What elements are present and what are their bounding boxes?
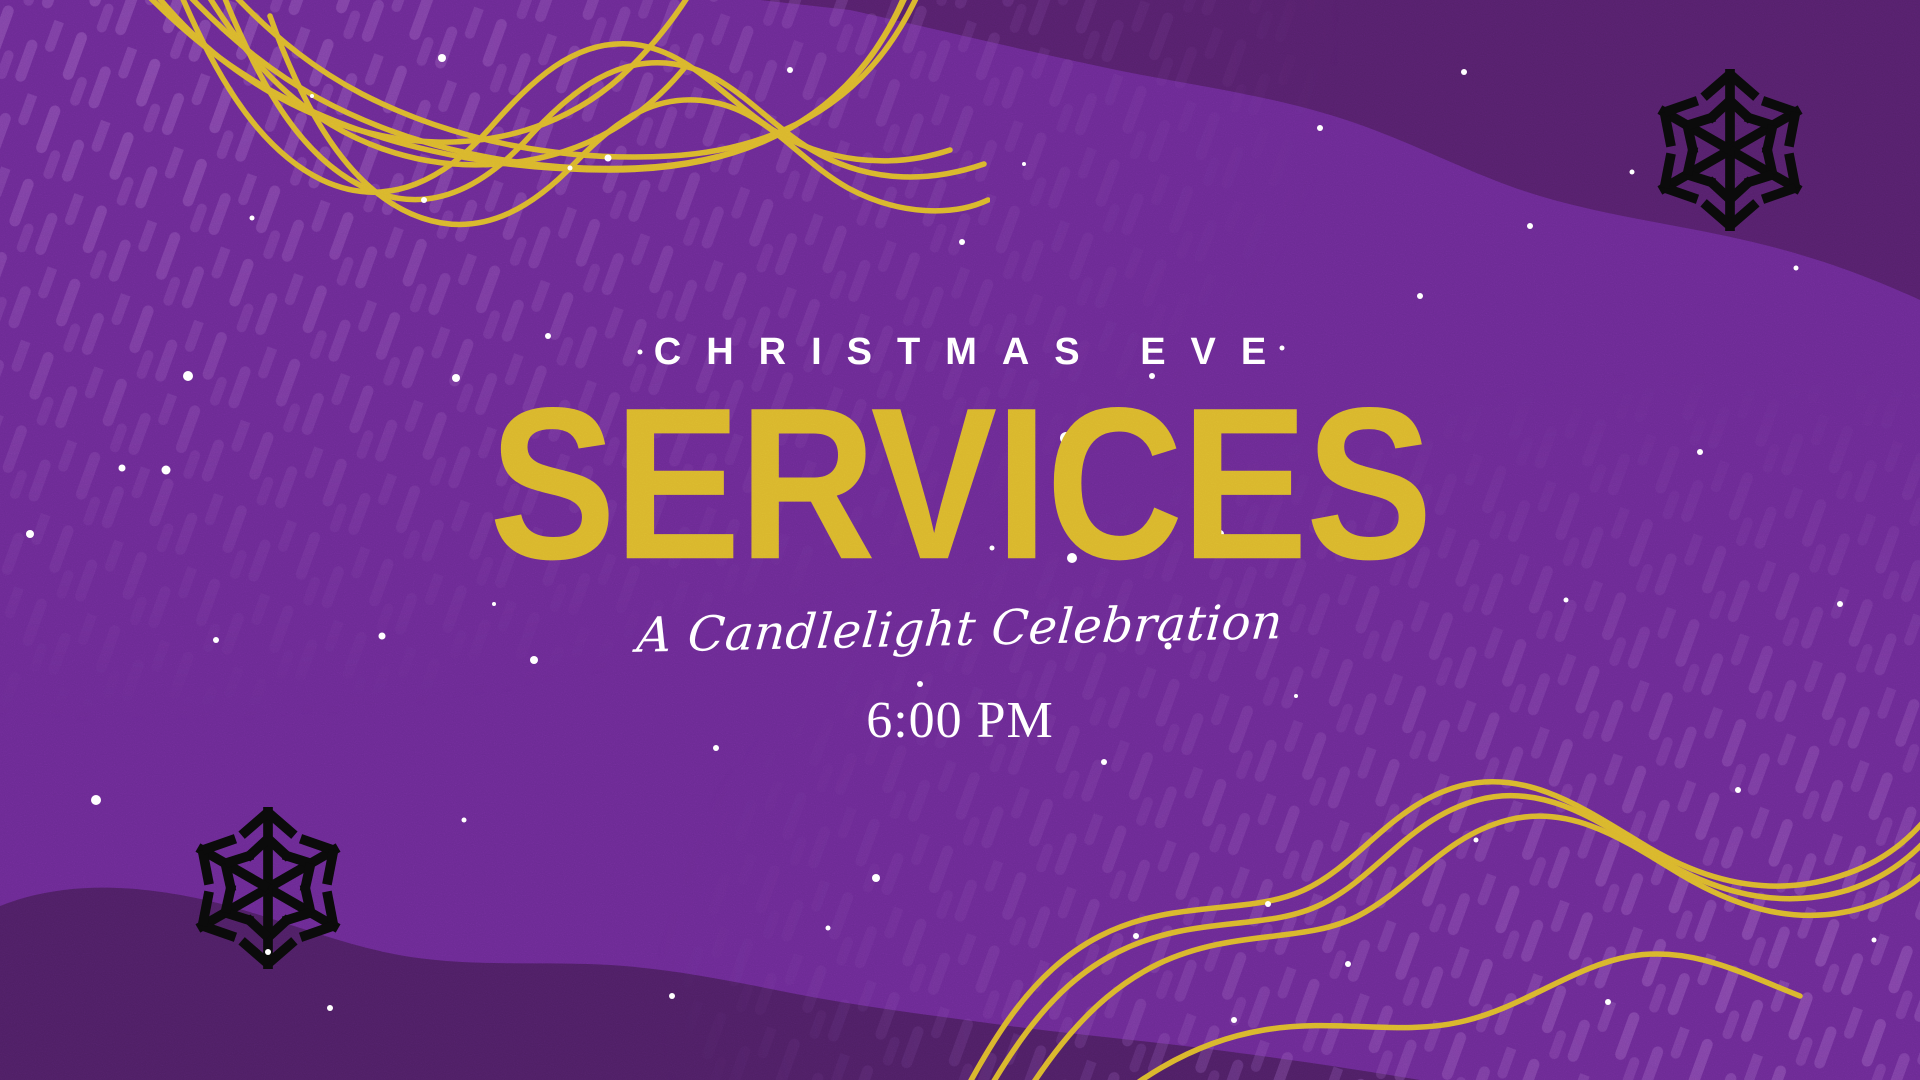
service-time: 6:00 PM xyxy=(866,695,1054,747)
page-title: SERVICES xyxy=(489,377,1430,599)
subtitle-candlelight-celebration: A Candlelight Celebration xyxy=(635,598,1285,660)
poster-text-block: CHRISTMAS EVE SERVICES A Candlelight Cel… xyxy=(0,0,1920,1080)
poster-canvas: CHRISTMAS EVE SERVICES A Candlelight Cel… xyxy=(0,0,1920,1080)
